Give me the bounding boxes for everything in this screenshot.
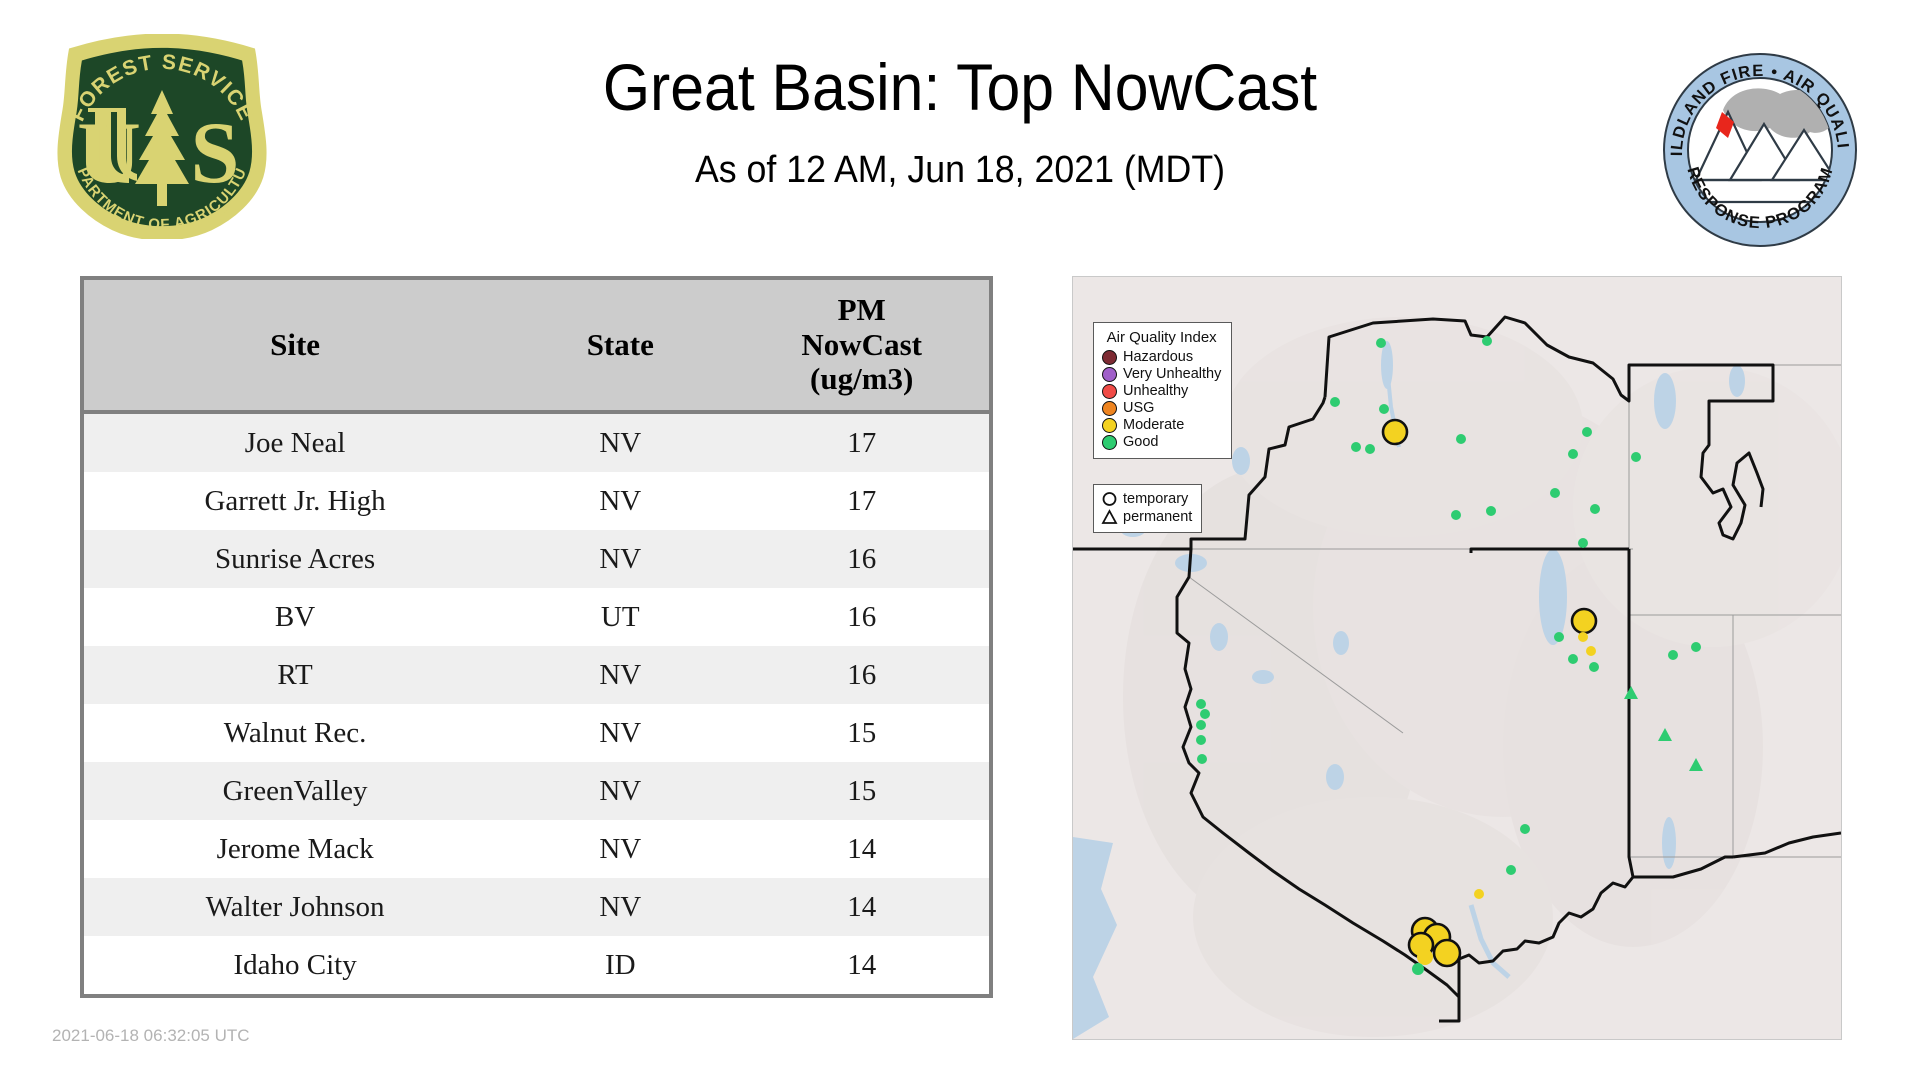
page-header: U S FOREST SERVICE DEPARTMENT OF AGRICUL… [0, 0, 1920, 268]
table-row[interactable]: Idaho CityID14 [82, 936, 991, 996]
wfaqrp-seal-icon: WILDLAND FIRE • AIR QUALITY RESPONSE PRO… [1660, 50, 1860, 250]
monitor-marker-temporary[interactable] [1330, 397, 1340, 407]
us-forest-service-logo: U S FOREST SERVICE DEPARTMENT OF AGRICUL… [55, 34, 270, 239]
cell-value: 15 [734, 704, 991, 762]
cell-site: Jerome Mack [82, 820, 506, 878]
table-row[interactable]: Joe NealNV17 [82, 412, 991, 472]
legend-row-permanent: permanent [1101, 508, 1192, 526]
aqi-legend-label: Good [1123, 435, 1158, 450]
aqi-legend-row: Moderate [1102, 417, 1221, 434]
aqi-legend-row: Good [1102, 434, 1221, 451]
monitor-marker-temporary[interactable] [1412, 963, 1424, 975]
aqi-legend-row: USG [1102, 400, 1221, 417]
table-row[interactable]: Walnut Rec.NV15 [82, 704, 991, 762]
monitor-marker-temporary[interactable] [1383, 420, 1407, 444]
aqi-swatch-icon [1102, 384, 1117, 399]
table-body: Joe NealNV17Garrett Jr. HighNV17Sunrise … [82, 412, 991, 996]
monitor-marker-temporary[interactable] [1578, 538, 1588, 548]
cell-value: 14 [734, 878, 991, 936]
cell-value: 17 [734, 412, 991, 472]
cell-value: 17 [734, 472, 991, 530]
cell-state: NV [506, 472, 734, 530]
monitor-marker-temporary[interactable] [1568, 654, 1578, 664]
table-row[interactable]: BVUT16 [82, 588, 991, 646]
cell-state: NV [506, 878, 734, 936]
monitor-marker-temporary[interactable] [1572, 609, 1596, 633]
temporary-circle-icon [1101, 491, 1118, 507]
aqi-swatch-icon [1102, 367, 1117, 382]
monitor-marker-temporary[interactable] [1568, 449, 1578, 459]
cell-site: BV [82, 588, 506, 646]
aqi-swatch-icon [1102, 401, 1117, 416]
aqi-swatch-icon [1102, 418, 1117, 433]
page-subtitle: As of 12 AM, Jun 18, 2021 (MDT) [340, 149, 1581, 192]
monitor-marker-temporary[interactable] [1417, 949, 1433, 965]
cell-value: 14 [734, 820, 991, 878]
column-header-pm-line2: NowCast [801, 327, 922, 362]
cell-value: 15 [734, 762, 991, 820]
monitor-marker-temporary[interactable] [1434, 940, 1460, 966]
table-header: Site State PM NowCast (ug/m3) [82, 278, 991, 412]
monitor-marker-temporary[interactable] [1196, 699, 1206, 709]
monitor-marker-temporary[interactable] [1486, 506, 1496, 516]
wildland-fire-air-quality-logo: WILDLAND FIRE • AIR QUALITY RESPONSE PRO… [1660, 50, 1860, 250]
aqi-legend-label: Unhealthy [1123, 384, 1188, 399]
column-header-state[interactable]: State [506, 278, 734, 412]
table-header-row: Site State PM NowCast (ug/m3) [82, 278, 991, 412]
aqi-legend-label: Hazardous [1123, 350, 1193, 365]
cell-site: Joe Neal [82, 412, 506, 472]
page-title: Great Basin: Top NowCast [353, 52, 1567, 123]
legend-row-temporary: temporary [1101, 490, 1192, 508]
footer-timestamp: 2021-06-18 06:32:05 UTC [52, 1026, 250, 1046]
monitor-marker-temporary[interactable] [1589, 662, 1599, 672]
great-basin-monitor-map[interactable]: Air Quality Index HazardousVery Unhealth… [1072, 276, 1842, 1040]
aqi-swatch-icon [1102, 350, 1117, 365]
monitor-marker-temporary[interactable] [1554, 632, 1564, 642]
aqi-swatch-icon [1102, 435, 1117, 450]
monitor-marker-temporary[interactable] [1200, 709, 1210, 719]
monitor-marker-temporary[interactable] [1196, 720, 1206, 730]
monitor-marker-temporary[interactable] [1482, 336, 1492, 346]
air-quality-index-legend: Air Quality Index HazardousVery Unhealth… [1093, 322, 1232, 459]
cell-state: NV [506, 762, 734, 820]
monitor-marker-temporary[interactable] [1197, 754, 1207, 764]
aqi-legend-label: USG [1123, 401, 1154, 416]
cell-site: GreenValley [82, 762, 506, 820]
permanent-triangle-icon [1101, 509, 1118, 525]
monitor-marker-temporary[interactable] [1196, 735, 1206, 745]
table-row[interactable]: Sunrise AcresNV16 [82, 530, 991, 588]
cell-value: 16 [734, 588, 991, 646]
table-row[interactable]: Jerome MackNV14 [82, 820, 991, 878]
aqi-legend-items: HazardousVery UnhealthyUnhealthyUSGModer… [1102, 349, 1221, 451]
cell-state: NV [506, 820, 734, 878]
table-row[interactable]: Walter JohnsonNV14 [82, 878, 991, 936]
cell-state: NV [506, 530, 734, 588]
aqi-legend-row: Unhealthy [1102, 383, 1221, 400]
monitor-marker-temporary[interactable] [1379, 404, 1389, 414]
cell-state: NV [506, 412, 734, 472]
monitor-marker-temporary[interactable] [1631, 452, 1641, 462]
monitor-marker-temporary[interactable] [1668, 650, 1678, 660]
monitor-marker-temporary[interactable] [1376, 338, 1386, 348]
legend-label-temporary: temporary [1123, 492, 1188, 507]
cell-site: RT [82, 646, 506, 704]
monitor-marker-temporary[interactable] [1590, 504, 1600, 514]
cell-value: 16 [734, 530, 991, 588]
monitor-marker-temporary[interactable] [1550, 488, 1560, 498]
top-nowcast-table-panel: Site State PM NowCast (ug/m3) Joe NealNV… [80, 276, 993, 998]
cell-site: Idaho City [82, 936, 506, 996]
monitor-marker-temporary[interactable] [1474, 889, 1484, 899]
table-row[interactable]: GreenValleyNV15 [82, 762, 991, 820]
legend-label-permanent: permanent [1123, 510, 1192, 525]
column-header-pm-nowcast[interactable]: PM NowCast (ug/m3) [734, 278, 991, 412]
cell-site: Walnut Rec. [82, 704, 506, 762]
column-header-site[interactable]: Site [82, 278, 506, 412]
table-row[interactable]: RTNV16 [82, 646, 991, 704]
cell-site: Sunrise Acres [82, 530, 506, 588]
column-header-pm-line1: PM [838, 292, 886, 327]
cell-state: UT [506, 588, 734, 646]
table-row[interactable]: Garrett Jr. HighNV17 [82, 472, 991, 530]
title-block: Great Basin: Top NowCast As of 12 AM, Ju… [300, 52, 1620, 192]
monitor-marker-temporary[interactable] [1365, 444, 1375, 454]
aqi-legend-label: Moderate [1123, 418, 1184, 433]
monitor-marker-temporary[interactable] [1451, 510, 1461, 520]
monitor-marker-temporary[interactable] [1456, 434, 1466, 444]
aqi-legend-title: Air Quality Index [1102, 329, 1221, 346]
cell-value: 14 [734, 936, 991, 996]
monitor-marker-temporary[interactable] [1351, 442, 1361, 452]
top-nowcast-table: Site State PM NowCast (ug/m3) Joe NealNV… [80, 276, 993, 998]
column-header-pm-line3: (ug/m3) [810, 361, 913, 396]
aqi-legend-row: Hazardous [1102, 349, 1221, 366]
cell-state: NV [506, 704, 734, 762]
cell-state: NV [506, 646, 734, 704]
monitor-type-legend: temporary permanent [1093, 484, 1202, 533]
monitor-marker-temporary[interactable] [1506, 865, 1516, 875]
cell-site: Walter Johnson [82, 878, 506, 936]
cell-state: ID [506, 936, 734, 996]
aqi-legend-label: Very Unhealthy [1123, 367, 1221, 382]
cell-value: 16 [734, 646, 991, 704]
monitor-marker-temporary[interactable] [1586, 646, 1596, 656]
monitor-marker-temporary[interactable] [1691, 642, 1701, 652]
monitor-marker-temporary[interactable] [1520, 824, 1530, 834]
forest-service-shield-icon: U S FOREST SERVICE DEPARTMENT OF AGRICUL… [55, 34, 270, 239]
cell-site: Garrett Jr. High [82, 472, 506, 530]
aqi-legend-row: Very Unhealthy [1102, 366, 1221, 383]
monitor-marker-temporary[interactable] [1582, 427, 1592, 437]
monitor-marker-temporary[interactable] [1578, 632, 1588, 642]
